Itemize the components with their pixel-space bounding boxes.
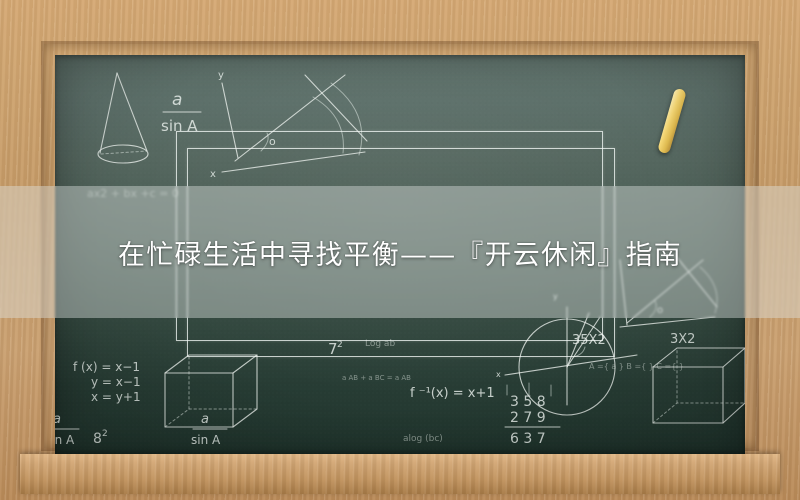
page-title: 在忙碌生活中寻找平衡——『开云休闲』指南	[118, 233, 682, 272]
chalk-tray	[20, 454, 780, 494]
screenshot-root: a sin A y x o ax2	[0, 0, 800, 500]
title-overlay-band: 在忙碌生活中寻找平衡——『开云休闲』指南	[0, 186, 800, 318]
